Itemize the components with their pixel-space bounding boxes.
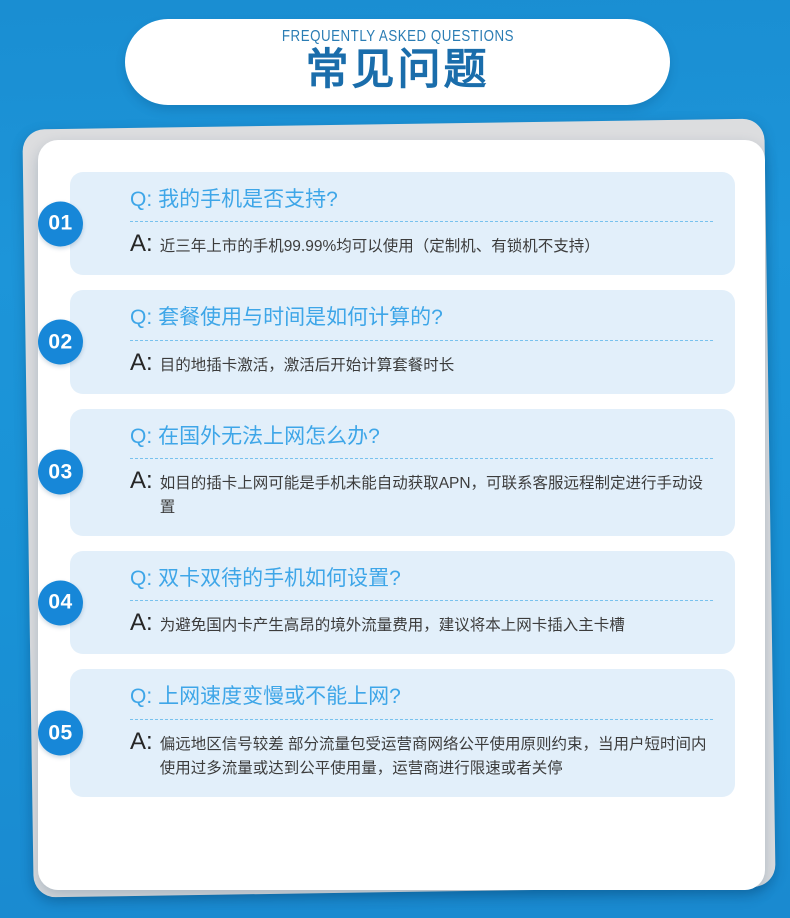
answer-prefix-label: A: (130, 350, 153, 376)
answer-prefix-label: A: (130, 468, 153, 494)
faq-answer-row: A:近三年上市的手机99.99%均可以使用（定制机、有锁机不支持） (130, 222, 713, 259)
paper-card-front: 01Q:我的手机是否支持?A:近三年上市的手机99.99%均可以使用（定制机、有… (38, 140, 765, 890)
faq-item[interactable]: 04Q:双卡双待的手机如何设置?A:为避免国内卡产生高昂的境外流量费用，建议将本… (38, 551, 765, 654)
faq-answer-text: 为避免国内卡产生高昂的境外流量费用，建议将本上网卡插入主卡槽 (160, 610, 625, 638)
faq-question-row: Q:双卡双待的手机如何设置? (130, 565, 713, 600)
faq-question-text: 我的手机是否支持? (158, 186, 338, 214)
question-prefix-label: Q: (130, 683, 152, 711)
faq-card[interactable]: Q:双卡双待的手机如何设置?A:为避免国内卡产生高昂的境外流量费用，建议将本上网… (70, 551, 735, 654)
faq-item[interactable]: 02Q:套餐使用与时间是如何计算的?A:目的地插卡激活，激活后开始计算套餐时长 (38, 290, 765, 393)
answer-prefix-label: A: (130, 231, 153, 257)
faq-card[interactable]: Q:在国外无法上网怎么办?A:如目的插卡上网可能是手机未能自动获取APN，可联系… (70, 409, 735, 536)
answer-prefix-label: A: (130, 729, 153, 755)
faq-question-text: 套餐使用与时间是如何计算的? (158, 304, 443, 332)
faq-header-banner: FREQUENTLY ASKED QUESTIONS 常见问题 (125, 19, 670, 105)
faq-question-row: Q:在国外无法上网怎么办? (130, 423, 713, 458)
faq-number-badge: 03 (38, 450, 83, 495)
question-prefix-label: Q: (130, 186, 152, 214)
question-prefix-label: Q: (130, 304, 152, 332)
faq-answer-row: A:为避免国内卡产生高昂的境外流量费用，建议将本上网卡插入主卡槽 (130, 601, 713, 638)
faq-list: 01Q:我的手机是否支持?A:近三年上市的手机99.99%均可以使用（定制机、有… (38, 140, 765, 797)
faq-answer-row: A:偏远地区信号较差 部分流量包受运营商网络公平使用原则约束，当用户短时间内使用… (130, 720, 713, 781)
question-prefix-label: Q: (130, 423, 152, 451)
faq-answer-row: A:目的地插卡激活，激活后开始计算套餐时长 (130, 341, 713, 378)
faq-card[interactable]: Q:我的手机是否支持?A:近三年上市的手机99.99%均可以使用（定制机、有锁机… (70, 172, 735, 275)
answer-prefix-label: A: (130, 610, 153, 636)
faq-card[interactable]: Q:上网速度变慢或不能上网?A:偏远地区信号较差 部分流量包受运营商网络公平使用… (70, 669, 735, 796)
faq-number-badge: 02 (38, 320, 83, 365)
page-title: 常见问题 (306, 46, 490, 95)
faq-question-row: Q:上网速度变慢或不能上网? (130, 683, 713, 718)
faq-answer-row: A:如目的插卡上网可能是手机未能自动获取APN，可联系客服远程制定进行手动设置 (130, 459, 713, 520)
faq-item[interactable]: 05Q:上网速度变慢或不能上网?A:偏远地区信号较差 部分流量包受运营商网络公平… (38, 669, 765, 796)
faq-item[interactable]: 01Q:我的手机是否支持?A:近三年上市的手机99.99%均可以使用（定制机、有… (38, 172, 765, 275)
header-eyebrow-text: FREQUENTLY ASKED QUESTIONS (281, 29, 513, 45)
faq-answer-text: 近三年上市的手机99.99%均可以使用（定制机、有锁机不支持） (160, 231, 600, 259)
faq-item[interactable]: 03Q:在国外无法上网怎么办?A:如目的插卡上网可能是手机未能自动获取APN，可… (38, 409, 765, 536)
faq-answer-text: 目的地插卡激活，激活后开始计算套餐时长 (160, 350, 455, 378)
faq-question-text: 双卡双待的手机如何设置? (158, 565, 401, 593)
faq-number-badge: 04 (38, 580, 83, 625)
faq-answer-text: 如目的插卡上网可能是手机未能自动获取APN，可联系客服远程制定进行手动设置 (160, 468, 713, 520)
faq-question-text: 在国外无法上网怎么办? (158, 423, 380, 451)
faq-card[interactable]: Q:套餐使用与时间是如何计算的?A:目的地插卡激活，激活后开始计算套餐时长 (70, 290, 735, 393)
question-prefix-label: Q: (130, 565, 152, 593)
faq-paper-stack: 01Q:我的手机是否支持?A:近三年上市的手机99.99%均可以使用（定制机、有… (0, 118, 790, 918)
faq-number-badge: 01 (38, 201, 83, 246)
faq-answer-text: 偏远地区信号较差 部分流量包受运营商网络公平使用原则约束，当用户短时间内使用过多… (160, 729, 713, 781)
faq-question-row: Q:我的手机是否支持? (130, 186, 713, 221)
faq-question-row: Q:套餐使用与时间是如何计算的? (130, 304, 713, 339)
faq-number-badge: 05 (38, 711, 83, 756)
faq-question-text: 上网速度变慢或不能上网? (158, 683, 401, 711)
